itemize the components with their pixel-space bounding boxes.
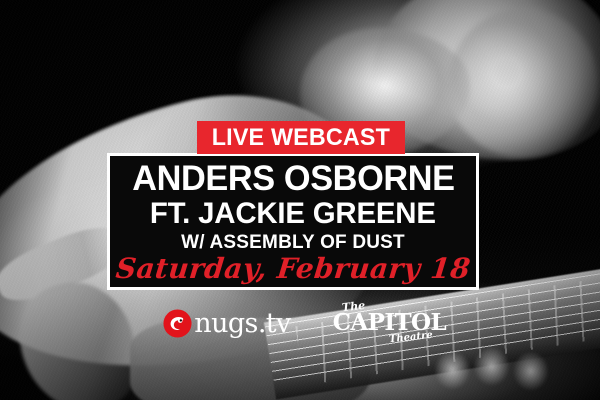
nugs-bird-icon xyxy=(163,309,192,338)
capitol-theatre-text: Theatre xyxy=(388,331,433,346)
featured-artist: FT. JACKIE GREENE xyxy=(150,198,436,230)
photo-hair-highlight xyxy=(448,8,598,158)
promo-poster: LIVE WEBCAST ANDERS OSBORNE FT. JACKIE G… xyxy=(0,0,600,400)
artist-name: ANDERS OSBORNE xyxy=(132,161,454,196)
logo-row: nugs.tv The CAPITOL Theatre xyxy=(0,300,600,346)
nugs-tv-logo[interactable]: nugs.tv xyxy=(163,309,290,338)
live-webcast-banner: LIVE WEBCAST xyxy=(197,121,405,154)
headline-box: ANDERS OSBORNE FT. JACKIE GREENE W/ ASSE… xyxy=(107,153,479,290)
photo-fretting-hand xyxy=(430,340,570,400)
live-webcast-label: LIVE WEBCAST xyxy=(212,126,390,150)
support-artist: W/ ASSEMBLY OF DUST xyxy=(181,233,405,253)
capitol-theatre-logo[interactable]: The CAPITOL Theatre xyxy=(333,301,437,345)
nugs-tv-wordmark: nugs.tv xyxy=(194,310,290,337)
event-date: Saturday, February 18 xyxy=(114,254,471,283)
